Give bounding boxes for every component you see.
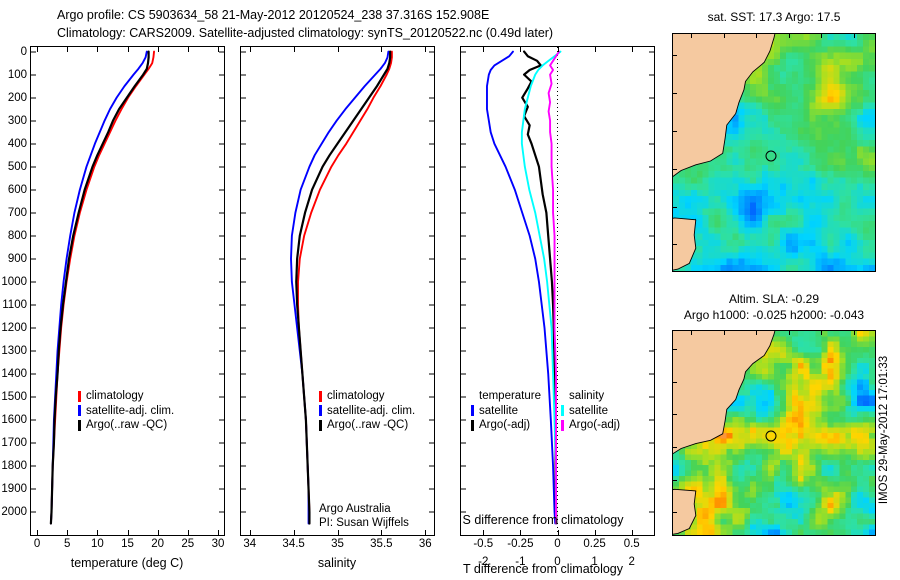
x-tick-mark [595,47,596,52]
depth-tick-mark [31,281,36,282]
depth-tick-mark [219,511,224,512]
x-tick-mark [632,47,633,52]
salinity-difference-tick-label: 0 [554,538,560,550]
legend-color-swatch [319,420,322,431]
depth-tick-label: 1100 [2,299,27,311]
depth-tick-label: 1800 [1,460,27,472]
depth-tick-mark [429,74,434,75]
salinity-difference-tick-label: 0.25 [583,538,605,550]
longitude-tick-mark [854,331,855,335]
depth-tick-mark [429,304,434,305]
latitude-tick-mark [673,131,677,132]
legend-label: climatology [327,389,385,404]
depth-tick-mark [241,212,246,213]
depth-tick-mark [649,120,654,121]
x-tick-label: 34 [243,538,256,550]
latitude-tick-mark [673,447,677,448]
x-tick-mark [250,47,251,52]
longitude-tick-mark [724,34,725,38]
depth-tick-mark [649,442,654,443]
x-tick-mark [97,530,98,535]
sst-map[interactable]: -32-34-36-38-40-42148150152154156158 [672,33,876,272]
depth-tick-mark [649,143,654,144]
latitude-tick-mark [673,382,677,383]
legend-item: Argo(..raw -QC) [78,418,174,433]
depth-tick-mark [219,166,224,167]
depth-tick-mark [31,51,36,52]
timestamp-stamp: IMOS 29-May-2012 17:01:33 [878,356,890,504]
salinity-difference-axis-label: S difference from climatology [463,513,624,527]
legend-label: Argo(..raw -QC) [327,418,408,433]
depth-tick-mark [649,258,654,259]
depth-tick-label: 1500 [1,391,27,403]
depth-tick-label: 1700 [1,437,27,449]
x-tick-mark [558,47,559,52]
x-tick-mark [632,530,633,535]
x-tick-mark [425,530,426,535]
x-tick-label: 30 [212,538,225,550]
depth-tick-mark [219,442,224,443]
depth-tick-mark [429,419,434,420]
depth-tick-label: 1000 [1,276,27,288]
depth-tick-mark [241,97,246,98]
depth-tick-mark [241,511,246,512]
legend-header: temperature [471,389,541,404]
depth-tick-mark [241,373,246,374]
depth-tick-mark [219,396,224,397]
x-tick-label: 10 [91,538,104,550]
depth-tick-mark [241,327,246,328]
longitude-tick-mark [691,331,692,335]
depth-tick-mark [241,166,246,167]
longitude-tick-mark [756,331,757,335]
depth-tick-mark [649,281,654,282]
x-tick-mark [218,47,219,52]
depth-tick-mark [31,419,36,420]
depth-tick-mark [31,97,36,98]
x-tick-mark [37,47,38,52]
longitude-tick-mark [821,34,822,38]
depth-tick-mark [31,327,36,328]
legend-item: satellite [561,404,620,419]
depth-tick-mark [429,511,434,512]
legend-color-swatch [78,420,81,431]
x-tick-mark [128,530,129,535]
depth-tick-label: 800 [8,230,27,242]
depth-tick-mark [461,120,466,121]
salinity-curves [241,47,434,535]
depth-tick-mark [219,120,224,121]
latitude-tick-mark [673,349,677,350]
depth-tick-label: 400 [8,138,27,150]
legend-color-swatch [471,405,474,416]
legend-color-swatch [319,405,322,416]
temperature-curves [31,47,224,535]
x-tick-mark [37,530,38,535]
legend-item: climatology [319,389,415,404]
x-tick-label: 5 [64,538,70,550]
depth-tick-mark [429,97,434,98]
difference-curves [461,47,654,535]
depth-tick-mark [241,74,246,75]
salinity-difference-tick-label: 0.5 [624,538,640,550]
depth-tick-mark [461,235,466,236]
depth-tick-mark [31,465,36,466]
x-tick-mark [158,47,159,52]
latitude-tick-mark [673,414,677,415]
depth-tick-mark [461,51,466,52]
program-pi: PI: Susan Wijffels [319,516,409,530]
depth-tick-mark [219,350,224,351]
depth-tick-mark [219,258,224,259]
depth-tick-mark [219,281,224,282]
depth-tick-mark [649,97,654,98]
longitude-tick-mark [789,331,790,335]
latitude-tick-mark [673,512,677,513]
depth-tick-mark [429,442,434,443]
depth-tick-label: 100 [8,69,27,81]
latitude-tick-mark [673,244,677,245]
depth-tick-mark [219,74,224,75]
temperature-legend: climatologysatellite-adj. clim.Argo(..ra… [78,389,174,433]
legend-item: satellite-adj. clim. [319,404,415,419]
depth-tick-label: 1200 [1,322,27,334]
temperature-profile-plot: climatologysatellite-adj. clim.Argo(..ra… [30,46,225,536]
legend-color-swatch [319,391,322,402]
depth-tick-mark [429,327,434,328]
x-tick-mark [67,47,68,52]
x-tick-label: 2 [629,556,635,568]
title-line-1: Argo profile: CS 5903634_58 21-May-2012 … [57,8,489,22]
depth-tick-mark [461,419,466,420]
difference-legend-temperature: temperaturesatelliteArgo(-adj) [471,389,541,433]
depth-tick-mark [649,212,654,213]
depth-tick-mark [31,488,36,489]
x-tick-mark [67,530,68,535]
depth-tick-mark [31,143,36,144]
depth-tick-label: 600 [8,184,27,196]
latitude-tick-mark [673,93,677,94]
depth-tick-mark [219,189,224,190]
depth-tick-mark [429,166,434,167]
depth-tick-mark [461,143,466,144]
depth-tick-mark [429,212,434,213]
depth-tick-mark [31,74,36,75]
depth-tick-mark [649,235,654,236]
legend-label: Argo(-adj) [479,418,530,433]
x-tick-mark [97,47,98,52]
x-tick-label: 35.5 [370,538,392,550]
depth-tick-label: 900 [8,253,27,265]
x-tick-label: 0 [34,538,40,550]
x-tick-mark [381,530,382,535]
depth-tick-mark [241,350,246,351]
depth-tick-mark [31,258,36,259]
depth-tick-mark [429,373,434,374]
depth-tick-mark [31,166,36,167]
depth-tick-mark [461,373,466,374]
depth-tick-mark [649,350,654,351]
legend-color-swatch [471,420,474,431]
x-tick-mark [520,47,521,52]
depth-tick-mark [649,189,654,190]
x-tick-label: 25 [181,538,194,550]
salinity-difference-tick-label: -0.5 [473,538,493,550]
x-tick-mark [338,530,339,535]
difference-legend-salinity: salinitysatelliteArgo(-adj) [561,389,620,433]
x-tick-mark [218,530,219,535]
depth-tick-mark [429,350,434,351]
legend-label: Argo(..raw -QC) [86,418,167,433]
legend-item: Argo(-adj) [471,418,541,433]
title-line-2: Climatology: CARS2009. Satellite-adjuste… [57,26,553,40]
profile-location-marker [765,150,776,161]
depth-tick-mark [649,465,654,466]
depth-tick-mark [241,235,246,236]
depth-tick-label: 1900 [1,483,27,495]
program-note: Argo Australia PI: Susan Wijffels [319,502,409,530]
salinity-difference-tick-label: -0.25 [507,538,533,550]
salinity-profile-plot: climatologysatellite-adj. clim.Argo(..ra… [240,46,435,536]
depth-tick-mark [649,304,654,305]
depth-tick-mark [461,212,466,213]
legend-item: Argo(-adj) [561,418,620,433]
depth-tick-mark [241,419,246,420]
depth-tick-mark [461,396,466,397]
depth-tick-mark [461,465,466,466]
depth-tick-mark [219,304,224,305]
depth-tick-mark [649,74,654,75]
temperature-difference-axis-label: T difference from climatology [463,562,623,576]
x-tick-mark [338,47,339,52]
program-name: Argo Australia [319,502,409,516]
depth-tick-mark [461,304,466,305]
sst-map-title: sat. SST: 17.3 Argo: 17.5 [708,10,841,24]
depth-tick-mark [429,189,434,190]
x-tick-mark [558,530,559,535]
depth-tick-mark [461,189,466,190]
x-tick-label: 36 [419,538,432,550]
depth-tick-mark [31,511,36,512]
depth-tick-mark [429,488,434,489]
latitude-tick-mark [673,169,677,170]
legend-label: satellite-adj. clim. [327,404,415,419]
depth-tick-mark [241,258,246,259]
longitude-tick-mark [854,34,855,38]
legend-item: satellite-adj. clim. [78,404,174,419]
depth-tick-mark [31,212,36,213]
depth-tick-mark [429,143,434,144]
depth-tick-mark [461,97,466,98]
sla-map[interactable]: -32-34-36-38-40-42148150152154156158 [672,330,876,536]
legend-label: Argo(-adj) [569,418,620,433]
depth-tick-mark [461,166,466,167]
depth-tick-mark [219,97,224,98]
depth-tick-mark [649,166,654,167]
depth-tick-mark [461,281,466,282]
depth-tick-label: 1400 [1,368,27,380]
legend-color-swatch [78,405,81,416]
depth-tick-mark [219,373,224,374]
depth-tick-mark [461,442,466,443]
depth-tick-label: 1300 [1,345,27,357]
depth-tick-mark [241,51,246,52]
depth-tick-mark [649,327,654,328]
sla-map-title-line-2: Argo h1000: -0.025 h2000: -0.043 [684,308,864,322]
depth-tick-mark [649,419,654,420]
depth-tick-mark [31,442,36,443]
x-tick-mark [188,47,189,52]
salinity-axis-label: salinity [318,556,356,570]
depth-tick-label: 300 [8,115,27,127]
depth-tick-mark [649,51,654,52]
depth-tick-mark [219,143,224,144]
depth-tick-mark [219,51,224,52]
depth-tick-mark [429,51,434,52]
x-tick-label: 34.5 [282,538,304,550]
depth-tick-mark [649,373,654,374]
depth-tick-mark [219,212,224,213]
depth-tick-mark [429,281,434,282]
depth-tick-mark [461,258,466,259]
longitude-tick-mark [789,34,790,38]
legend-label: climatology [86,389,144,404]
depth-tick-mark [461,74,466,75]
x-tick-label: 35 [331,538,344,550]
depth-tick-mark [461,327,466,328]
depth-tick-label: 2000 [1,506,27,518]
x-tick-mark [425,47,426,52]
legend-color-swatch [78,391,81,402]
depth-tick-mark [31,235,36,236]
depth-tick-label: 500 [8,161,27,173]
longitude-tick-mark [821,331,822,335]
x-tick-label: 15 [121,538,134,550]
difference-profile-plot: temperaturesatelliteArgo(-adj) salinitys… [460,46,655,536]
depth-tick-label: 1600 [1,414,27,426]
depth-tick-mark [241,143,246,144]
legend-color-swatch [561,405,564,416]
depth-tick-mark [31,304,36,305]
depth-tick-mark [31,396,36,397]
legend-item: satellite [471,404,541,419]
longitude-tick-mark [724,331,725,335]
profile-location-marker [765,430,776,441]
depth-tick-label: 200 [8,92,27,104]
x-tick-mark [188,530,189,535]
x-tick-mark [520,530,521,535]
depth-tick-mark [429,235,434,236]
depth-tick-mark [241,120,246,121]
legend-label: satellite-adj. clim. [86,404,174,419]
x-tick-mark [294,530,295,535]
x-tick-mark [381,47,382,52]
latitude-tick-mark [673,207,677,208]
legend-item: climatology [78,389,174,404]
temperature-axis-label: temperature (deg C) [71,556,184,570]
depth-tick-mark [649,511,654,512]
legend-label: satellite [479,404,518,419]
sla-map-title-line-1: Altim. SLA: -0.29 [729,292,819,306]
latitude-tick-mark [673,480,677,481]
depth-tick-label: 700 [8,207,27,219]
depth-tick-mark [429,120,434,121]
x-tick-mark [483,530,484,535]
depth-tick-mark [241,488,246,489]
depth-tick-mark [241,442,246,443]
depth-tick-label: 0 [21,46,27,58]
depth-tick-mark [31,373,36,374]
legend-item: Argo(..raw -QC) [319,418,415,433]
depth-tick-mark [649,488,654,489]
depth-tick-mark [219,235,224,236]
depth-tick-mark [241,465,246,466]
depth-tick-mark [219,419,224,420]
depth-tick-mark [241,304,246,305]
depth-tick-mark [219,465,224,466]
depth-tick-mark [429,258,434,259]
depth-tick-mark [241,396,246,397]
depth-tick-mark [241,189,246,190]
salinity-legend: climatologysatellite-adj. clim.Argo(..ra… [319,389,415,433]
longitude-tick-mark [691,34,692,38]
depth-tick-mark [429,465,434,466]
depth-tick-mark [649,396,654,397]
depth-tick-mark [31,189,36,190]
depth-tick-mark [429,396,434,397]
depth-tick-mark [219,488,224,489]
legend-header: salinity [561,389,620,404]
depth-tick-mark [31,120,36,121]
depth-tick-mark [241,281,246,282]
depth-tick-mark [461,488,466,489]
latitude-tick-mark [673,55,677,56]
legend-label: satellite [569,404,608,419]
longitude-tick-mark [756,34,757,38]
x-tick-mark [250,530,251,535]
x-tick-mark [128,47,129,52]
depth-tick-mark [219,327,224,328]
x-tick-mark [483,47,484,52]
x-tick-mark [158,530,159,535]
x-tick-mark [294,47,295,52]
x-tick-mark [595,530,596,535]
depth-tick-mark [31,350,36,351]
x-tick-label: 20 [151,538,164,550]
depth-tick-mark [461,350,466,351]
legend-color-swatch [561,420,564,431]
